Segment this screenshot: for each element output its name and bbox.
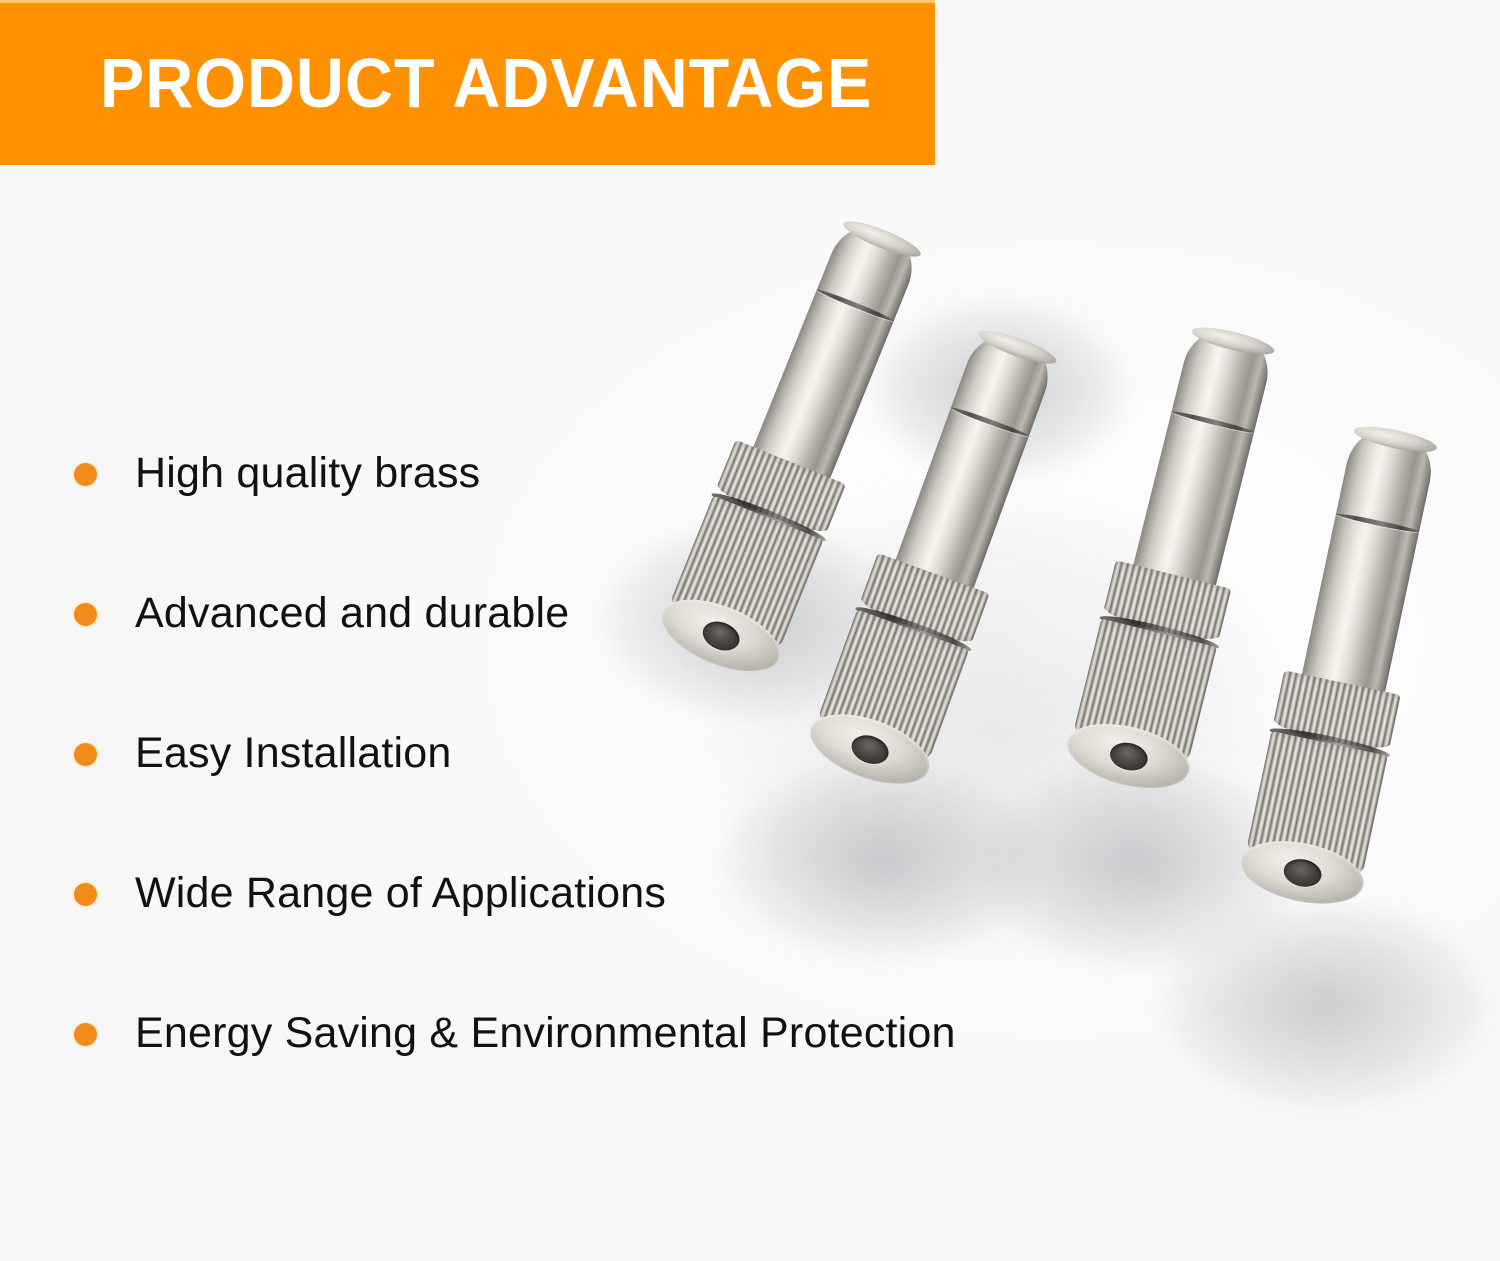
- header-banner: PRODUCT ADVANTAGE: [0, 0, 935, 165]
- nozzle-shank-tip: [840, 215, 924, 263]
- bullet-dot-icon: [74, 883, 97, 906]
- advantage-label: Easy Installation: [135, 730, 452, 777]
- page-title: PRODUCT ADVANTAGE: [100, 48, 872, 118]
- advantage-label: High quality brass: [135, 450, 480, 497]
- bullet-dot-icon: [74, 603, 97, 626]
- advantage-label: Energy Saving & Environmental Protection: [135, 1010, 956, 1057]
- list-item: Advanced and durable: [0, 544, 1000, 684]
- advantage-label: Wide Range of Applications: [135, 870, 666, 917]
- bullet-dot-icon: [74, 743, 97, 766]
- bullet-dot-icon: [74, 1023, 97, 1046]
- bullet-dot-icon: [74, 463, 97, 486]
- list-item: Wide Range of Applications: [0, 824, 1000, 964]
- cast-shadow-4: [1160, 900, 1490, 1110]
- advantage-label: Advanced and durable: [135, 590, 569, 637]
- advantages-list: High quality brass Advanced and durable …: [0, 404, 1000, 1104]
- list-item: High quality brass: [0, 404, 1000, 544]
- list-item: Easy Installation: [0, 684, 1000, 824]
- list-item: Energy Saving & Environmental Protection: [0, 964, 1000, 1104]
- product-advantage-infographic: PRODUCT ADVANTAGE High quality brass Adv…: [0, 0, 1500, 1261]
